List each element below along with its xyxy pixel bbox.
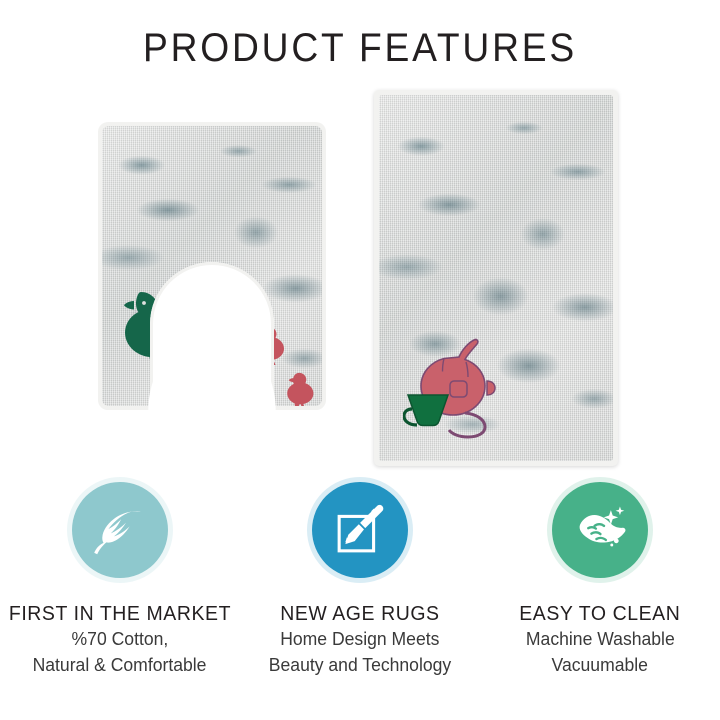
feature-line-2: Natural & Comfortable <box>33 652 207 678</box>
page-title: PRODUCT FEATURES <box>25 26 695 71</box>
design-pencil-icon-circle[interactable] <box>312 482 408 578</box>
cleaning-hand-icon-circle[interactable] <box>552 482 648 578</box>
feature-item-new-age-rugs[interactable]: NEW AGE RUGS Home Design Meets Beauty an… <box>240 482 480 677</box>
feature-item-easy-to-clean[interactable]: EASY TO CLEAN Machine Washable Vacuumabl… <box>480 482 720 677</box>
cleaning-hand-icon <box>571 501 629 559</box>
feature-title: EASY TO CLEAN <box>519 602 680 626</box>
feature-list: FIRST IN THE MARKET %70 Cotton, Natural … <box>0 482 720 677</box>
product-features-page: PRODUCT FEATURES <box>0 0 720 720</box>
feature-line-1: Home Design Meets <box>280 626 439 652</box>
feature-item-first-in-the-market[interactable]: FIRST IN THE MARKET %70 Cotton, Natural … <box>0 482 240 677</box>
feature-line-1: Machine Washable <box>526 626 675 652</box>
feather-icon-circle[interactable] <box>72 482 168 578</box>
product-image-rectangular-rug <box>374 90 618 466</box>
feature-line-2: Vacuumable <box>552 652 648 678</box>
feature-title: NEW AGE RUGS <box>280 602 439 626</box>
design-pencil-icon <box>331 501 389 559</box>
duckling-3-motif <box>284 370 320 406</box>
feature-title: FIRST IN THE MARKET <box>9 602 231 626</box>
feather-icon <box>91 501 149 559</box>
contour-mat-cutout <box>150 262 274 412</box>
feature-line-2: Beauty and Technology <box>269 652 451 678</box>
teapot-motif <box>403 333 511 445</box>
feature-line-1: %70 Cotton, <box>72 626 169 652</box>
product-image-contour-mat <box>98 122 326 410</box>
rect-rug-surface <box>379 95 613 461</box>
